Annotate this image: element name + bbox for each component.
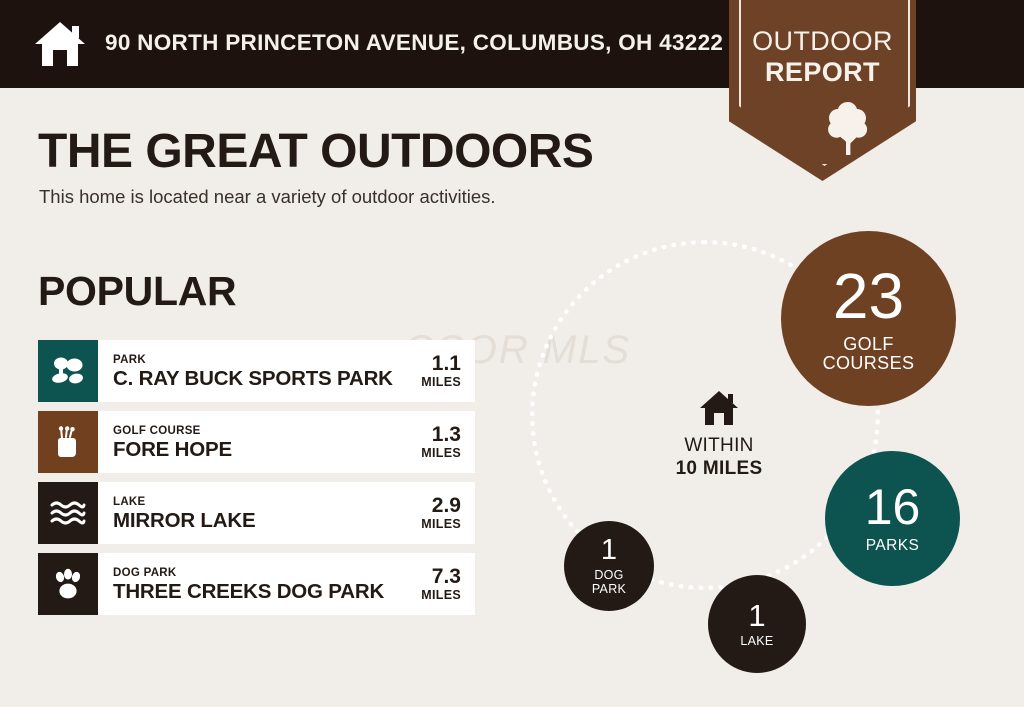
- list-item[interactable]: DOG PARK THREE CREEKS DOG PARK 7.3 MILES: [38, 553, 475, 615]
- list-item-icon-box: [38, 340, 98, 402]
- list-item[interactable]: LAKE MIRROR LAKE 2.9 MILES: [38, 482, 475, 544]
- stat-value: 1: [748, 600, 765, 631]
- distance-value: 1.1: [432, 353, 461, 375]
- badge-line-outdoor: OUTDOOR: [729, 26, 916, 57]
- center-label-line2: 10 MILES: [664, 457, 774, 480]
- list-item-name: THREE CREEKS DOG PARK: [113, 580, 417, 603]
- stat-label-line1: GOLF: [823, 335, 915, 354]
- golf-bag-icon: [53, 426, 83, 458]
- page-subtitle: This home is located near a variety of o…: [39, 186, 496, 208]
- stat-value: 23: [833, 264, 904, 328]
- center-label-line1: WITHIN: [664, 434, 774, 457]
- park-trees-icon: [51, 356, 85, 386]
- list-item-category: DOG PARK: [113, 566, 417, 580]
- stat-circle-golf-courses[interactable]: 23 GOLF COURSES: [781, 231, 956, 406]
- badge-line-report: REPORT: [729, 57, 916, 88]
- stat-circle-dog-park[interactable]: 1 DOG PARK: [564, 521, 654, 611]
- home-icon: [34, 20, 86, 68]
- stat-label-line2: COURSES: [823, 354, 915, 373]
- water-waves-icon: [50, 500, 86, 526]
- stat-label-line1: DOG: [592, 569, 626, 582]
- list-item-name: MIRROR LAKE: [113, 509, 417, 532]
- list-item[interactable]: GOLF COURSE FORE HOPE 1.3 MILES: [38, 411, 475, 473]
- list-item-distance: 1.3 MILES: [417, 411, 475, 473]
- list-item-name: C. RAY BUCK SPORTS PARK: [113, 367, 417, 390]
- list-item-text: GOLF COURSE FORE HOPE: [98, 411, 417, 473]
- stat-value: 1: [601, 536, 617, 565]
- list-item-distance: 1.1 MILES: [417, 340, 475, 402]
- list-item-text: LAKE MIRROR LAKE: [98, 482, 417, 544]
- tree-icon: [822, 100, 874, 156]
- property-address: 90 NORTH PRINCETON AVENUE, COLUMBUS, OH …: [105, 30, 723, 56]
- distance-value: 1.3: [432, 424, 461, 446]
- list-item-icon-box: [38, 553, 98, 615]
- stat-value: 16: [865, 482, 921, 532]
- distance-value: 7.3: [432, 566, 461, 588]
- distance-unit: MILES: [421, 446, 461, 461]
- popular-section-title: POPULAR: [38, 268, 236, 315]
- stat-label: LAKE: [740, 635, 773, 648]
- distance-value: 2.9: [432, 495, 461, 517]
- popular-places-list: PARK C. RAY BUCK SPORTS PARK 1.1 MILES G…: [38, 340, 475, 624]
- distance-unit: MILES: [421, 375, 461, 390]
- list-item-name: FORE HOPE: [113, 438, 417, 461]
- list-item-text: DOG PARK THREE CREEKS DOG PARK: [98, 553, 417, 615]
- stat-label: PARKS: [866, 538, 919, 555]
- diagram-center-marker: WITHIN 10 MILES: [664, 390, 774, 480]
- page-title: THE GREAT OUTDOORS: [38, 124, 593, 179]
- distance-unit: MILES: [421, 588, 461, 603]
- list-item-icon-box: [38, 411, 98, 473]
- stat-circle-parks[interactable]: 16 PARKS: [825, 451, 960, 586]
- stat-label: GOLF COURSES: [823, 335, 915, 374]
- stat-circle-lake[interactable]: 1 LAKE: [708, 575, 806, 673]
- list-item-category: LAKE: [113, 495, 417, 509]
- home-icon: [699, 390, 739, 426]
- list-item-category: GOLF COURSE: [113, 424, 417, 438]
- list-item[interactable]: PARK C. RAY BUCK SPORTS PARK 1.1 MILES: [38, 340, 475, 402]
- distance-unit: MILES: [421, 517, 461, 532]
- stat-label-line2: PARK: [592, 583, 626, 596]
- list-item-distance: 7.3 MILES: [417, 553, 475, 615]
- paw-print-icon: [52, 568, 84, 600]
- list-item-text: PARK C. RAY BUCK SPORTS PARK: [98, 340, 417, 402]
- list-item-distance: 2.9 MILES: [417, 482, 475, 544]
- list-item-icon-box: [38, 482, 98, 544]
- stat-label: DOG PARK: [592, 569, 626, 596]
- list-item-category: PARK: [113, 353, 417, 367]
- within-10-miles-diagram: WITHIN 10 MILES 23 GOLF COURSES 16 PARKS…: [500, 210, 1024, 707]
